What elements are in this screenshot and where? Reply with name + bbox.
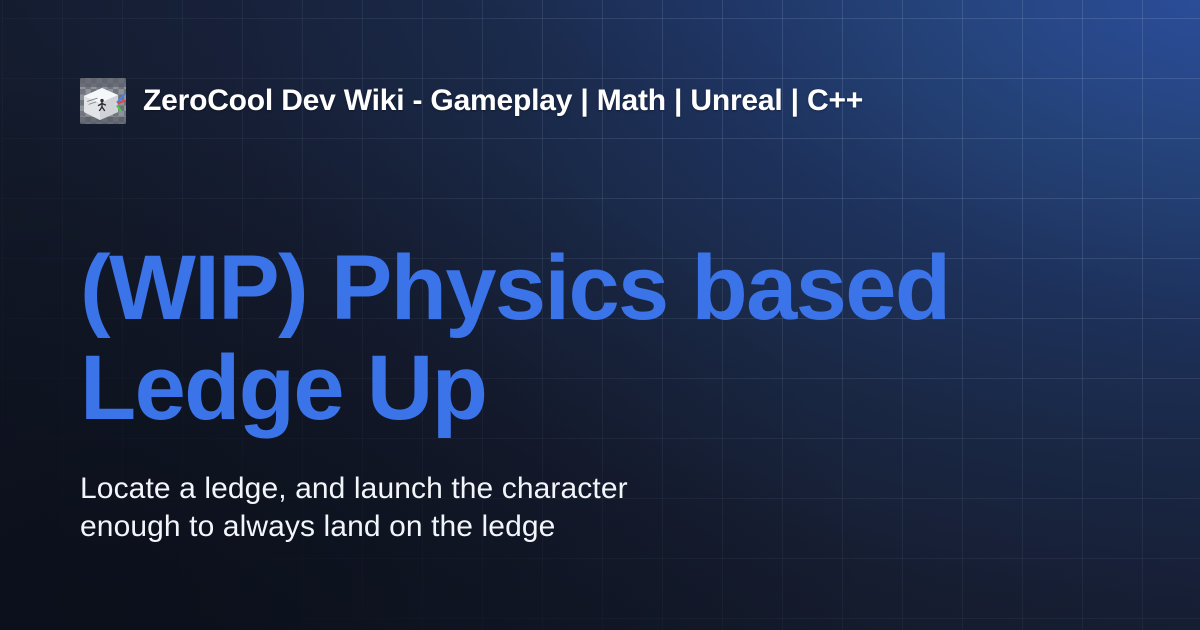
unreal-viewport-cube-thumbnail-icon <box>80 78 126 124</box>
subtitle-line-2: enough to always land on the ledge <box>80 508 940 546</box>
page-headline: (WIP) Physics based Ledge Up <box>80 238 1090 438</box>
card-content: ZeroCool Dev Wiki - Gameplay | Math | Un… <box>0 0 1200 630</box>
page-subtitle: Locate a ledge, and launch the character… <box>80 470 940 546</box>
social-share-card: ZeroCool Dev Wiki - Gameplay | Math | Un… <box>0 0 1200 630</box>
subtitle-line-1: Locate a ledge, and launch the character <box>80 470 940 508</box>
site-identity-row: ZeroCool Dev Wiki - Gameplay | Math | Un… <box>80 78 863 124</box>
site-title: ZeroCool Dev Wiki - Gameplay | Math | Un… <box>143 84 863 118</box>
